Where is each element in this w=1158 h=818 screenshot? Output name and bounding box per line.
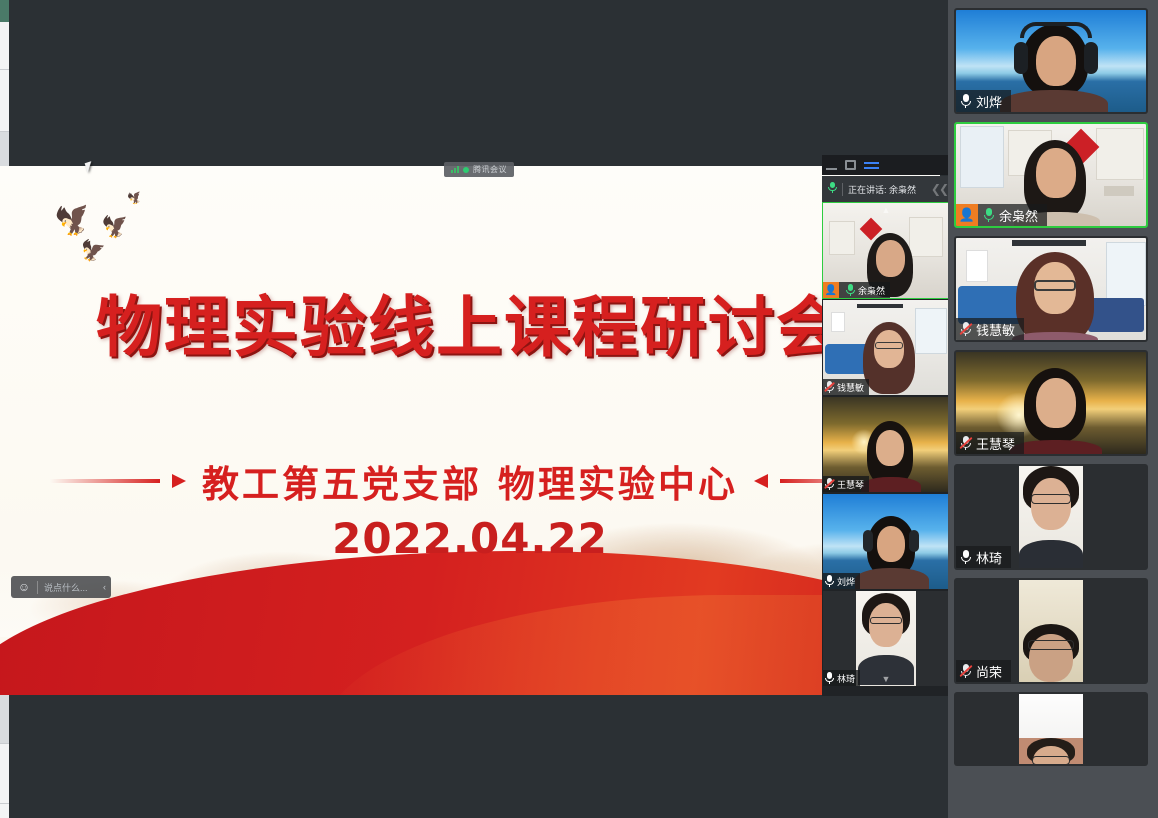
arrow-left-icon (754, 474, 768, 488)
slide-subtitle-left: 教工第五党支部 (202, 454, 482, 508)
screen-share-badge: 腾讯会议 (444, 162, 514, 177)
signal-icon (451, 166, 459, 173)
headphone-band (1020, 22, 1092, 38)
rule-left (50, 479, 160, 483)
portrait-area (856, 591, 916, 686)
participant-tile[interactable] (954, 692, 1148, 766)
participant-tile[interactable]: 王慧琴 (954, 350, 1148, 456)
participant-namebar: 👤 余枭然 (823, 282, 890, 298)
headphone-cup (1084, 42, 1098, 74)
speaking-indicator-bar: 正在讲话: 余枭然 ❮❮ (822, 176, 950, 202)
emoji-icon[interactable]: ☺ (11, 580, 37, 594)
scene-shelf (909, 217, 943, 257)
recording-dot-icon (463, 167, 469, 173)
slide-date: 2022.04.22 (0, 514, 940, 563)
host-badge-icon: 👤 (823, 282, 839, 298)
mic-on-icon (960, 94, 971, 109)
chat-input-placeholder[interactable]: 说点什么... (38, 581, 98, 594)
mic-off-icon (825, 478, 834, 490)
person-glasses (1028, 640, 1074, 650)
participant-name: 林琦 (976, 548, 1002, 567)
participant-name: 林琦 (837, 672, 855, 685)
person-face (874, 330, 904, 368)
arrow-right-icon (172, 474, 186, 488)
participant-namebar: 刘烨 (956, 90, 1011, 112)
mic-off-icon (960, 664, 971, 679)
participant-name: 刘烨 (976, 92, 1002, 111)
person-face (1036, 36, 1076, 86)
background-app-row (0, 70, 9, 132)
participant-namebar: 尚荣 (956, 660, 1011, 682)
participant-name: 余枭然 (858, 284, 885, 297)
person-glasses (875, 342, 903, 349)
scene-window (1106, 242, 1146, 306)
participant-sidebar[interactable]: 刘烨 👤 余枭然 (948, 0, 1158, 818)
background-app-accent (0, 0, 9, 22)
scene-window (960, 126, 1004, 188)
headphone-cup (909, 530, 919, 552)
person-body (1019, 540, 1083, 570)
scene-shelf (1096, 128, 1144, 180)
mic-on-icon (825, 672, 834, 684)
participant-tile[interactable]: 刘烨 (954, 8, 1148, 114)
person-glasses (1034, 280, 1076, 291)
collapse-icon[interactable]: ❮❮ (931, 182, 947, 196)
portrait-area (1019, 466, 1083, 568)
participant-namebar: 林琦 (823, 670, 860, 686)
person-face (1036, 148, 1076, 198)
person-face (876, 240, 905, 277)
participant-name: 刘烨 (837, 575, 855, 588)
person-face (877, 526, 905, 562)
inner-tile[interactable]: 钱慧敏 (822, 299, 950, 396)
participant-tile[interactable]: 尚荣 (954, 578, 1148, 684)
headphone-cup (1014, 42, 1028, 74)
scene-ledge (1104, 186, 1134, 196)
person-glasses (1032, 756, 1070, 765)
participant-name: 王慧琴 (837, 478, 864, 491)
mic-on-icon (825, 575, 834, 587)
person-body (1000, 90, 1108, 114)
scene-picture (966, 250, 988, 282)
portrait-area (1019, 580, 1083, 682)
scene-chair (1088, 298, 1144, 332)
person-body (861, 477, 921, 493)
scene-picture (831, 312, 845, 332)
inner-tile[interactable]: 王慧琴 (822, 396, 950, 493)
inner-window-titlebar (822, 155, 950, 175)
minimize-icon[interactable] (826, 162, 837, 170)
mic-on-icon (846, 284, 855, 296)
participant-namebar: 刘烨 (823, 573, 860, 589)
inner-participant-strip[interactable]: ▲ 👤 余枭然 钱慧敏 (822, 202, 950, 696)
person-glasses (870, 617, 902, 624)
chat-input-bar[interactable]: ☺ 说点什么... ‹ (11, 576, 111, 598)
inner-tile[interactable]: 刘烨 (822, 493, 950, 590)
speaking-label: 正在讲话: 余枭然 (848, 183, 916, 196)
mic-glyph (828, 182, 837, 194)
participant-namebar: 林琦 (956, 546, 1011, 568)
person-glasses (1031, 494, 1071, 504)
screen-share-badge-label: 腾讯会议 (473, 164, 507, 175)
slide-subtitle-right: 物理实验中心 (498, 454, 738, 508)
participant-name: 余枭然 (999, 206, 1038, 225)
inner-tile[interactable]: ▼ 林琦 (822, 590, 950, 687)
participant-namebar: 钱慧敏 (823, 379, 869, 395)
bird-icon: 🦅 (53, 201, 97, 240)
participant-namebar: 王慧琴 (823, 476, 869, 492)
mic-on-icon (960, 550, 971, 565)
mic-off-icon (825, 381, 834, 393)
background-app-row (0, 744, 9, 804)
person-face (1031, 478, 1071, 530)
participant-name: 钱慧敏 (837, 381, 864, 394)
mic-off-icon (960, 436, 971, 451)
screen-root: 🦅 🦅 🦅 🦅 物理实验线上课程研讨会 教工第五党支部 物理实验中心 2022.… (0, 0, 1158, 818)
participant-name: 钱慧敏 (976, 320, 1015, 339)
bird-icon: 🦅 (78, 240, 106, 264)
chevron-up-icon[interactable]: ▲ (882, 205, 891, 215)
headphone-cup (863, 530, 873, 552)
participant-namebar: 钱慧敏 (956, 318, 1024, 340)
bird-icon: 🦅 (126, 190, 144, 206)
scene-window (915, 308, 947, 354)
participant-namebar: 王慧琴 (956, 432, 1024, 454)
person-face (869, 603, 903, 647)
person-face (1036, 378, 1076, 428)
participant-tile[interactable]: 👤 余枭然 (954, 122, 1148, 228)
mic-off-icon (960, 322, 971, 337)
scene-shelf (829, 221, 855, 255)
bird-icon: 🦅 (101, 214, 131, 240)
background-app-row (0, 804, 9, 818)
host-badge-icon: 👤 (956, 204, 978, 226)
person-face (876, 430, 904, 466)
participant-name: 尚荣 (976, 662, 1002, 681)
mic-on-icon (983, 208, 994, 223)
participant-tile[interactable]: 林琦 (954, 464, 1148, 570)
chevron-right-icon[interactable]: ‹ (98, 582, 111, 592)
slide-subtitle-row: 教工第五党支部 物理实验中心 (0, 454, 940, 508)
flying-birds-decoration: 🦅 🦅 🦅 🦅 (50, 184, 180, 264)
shared-screen-slide: 🦅 🦅 🦅 🦅 物理实验线上课程研讨会 教工第五党支部 物理实验中心 2022.… (0, 166, 940, 695)
video-feed (956, 694, 1146, 764)
chevron-down-icon[interactable]: ▼ (882, 674, 891, 684)
slide-title: 物理实验线上课程研讨会 (0, 274, 940, 370)
scene-monitor (857, 304, 903, 308)
menu-icon[interactable] (864, 162, 879, 170)
person-body (1012, 332, 1098, 342)
portrait-area (1019, 694, 1083, 764)
inner-tile[interactable]: ▲ 👤 余枭然 (822, 202, 950, 299)
scene-monitor (1012, 240, 1086, 246)
participant-name: 王慧琴 (976, 434, 1015, 453)
microphone-icon (828, 182, 837, 197)
person-body (855, 568, 929, 590)
participant-tile[interactable]: 钱慧敏 (954, 236, 1148, 342)
maximize-icon[interactable] (845, 160, 856, 170)
divider (842, 183, 843, 196)
participant-namebar: 👤 余枭然 (956, 204, 1047, 226)
